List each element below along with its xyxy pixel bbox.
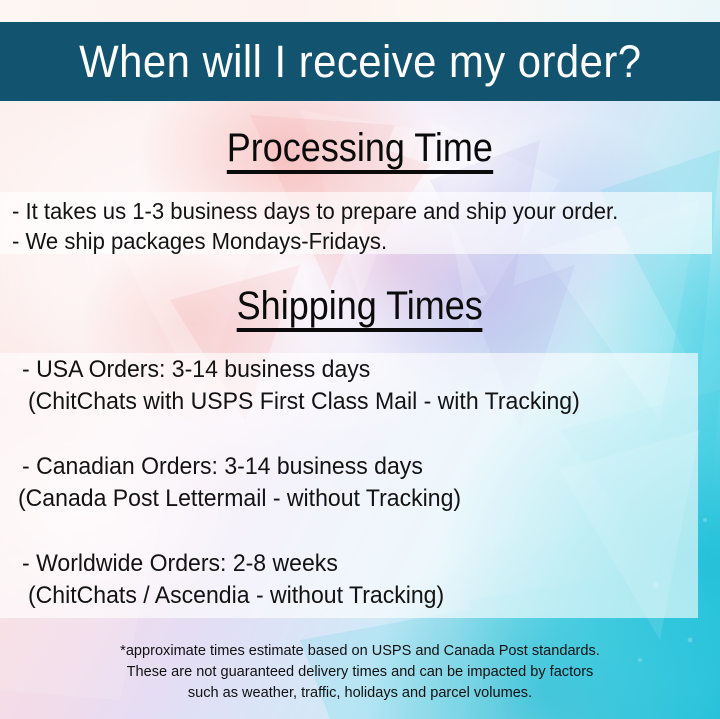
section-heading-processing-time-label: Processing Time: [227, 128, 493, 174]
processing-time-line-2: - We ship packages Mondays-Fridays.: [12, 230, 387, 253]
shipping-worldwide-carrier-line: (ChitChats / Ascendia - without Tracking…: [28, 584, 444, 608]
shipping-usa-carrier-line: (ChitChats with USPS First Class Mail - …: [28, 390, 580, 414]
disclaimer-line-2: These are not guaranteed delivery times …: [11, 661, 709, 682]
processing-time-line-1: - It takes us 1-3 business days to prepa…: [12, 200, 618, 223]
disclaimer-footer: *approximate times estimate based on USP…: [0, 640, 720, 703]
disclaimer-line-1: *approximate times estimate based on USP…: [11, 640, 709, 661]
section-heading-shipping-times-label: Shipping Times: [237, 286, 483, 332]
shipping-canadian-orders-line: - Canadian Orders: 3-14 business days: [22, 455, 423, 479]
shipping-canadian-carrier-line: (Canada Post Lettermail - without Tracki…: [18, 487, 461, 511]
top-strip: [0, 0, 720, 22]
page-title: When will I receive my order?: [79, 39, 641, 84]
section-heading-processing-time: Processing Time: [0, 128, 720, 174]
shipping-usa-orders-line: - USA Orders: 3-14 business days: [22, 358, 370, 382]
section-heading-shipping-times: Shipping Times: [0, 286, 720, 332]
disclaimer-line-3: such as weather, traffic, holidays and p…: [11, 682, 709, 703]
shipping-info-graphic: When will I receive my order? Processing…: [0, 0, 720, 719]
header-banner: When will I receive my order?: [0, 22, 720, 101]
shipping-worldwide-orders-line: - Worldwide Orders: 2-8 weeks: [22, 552, 338, 576]
